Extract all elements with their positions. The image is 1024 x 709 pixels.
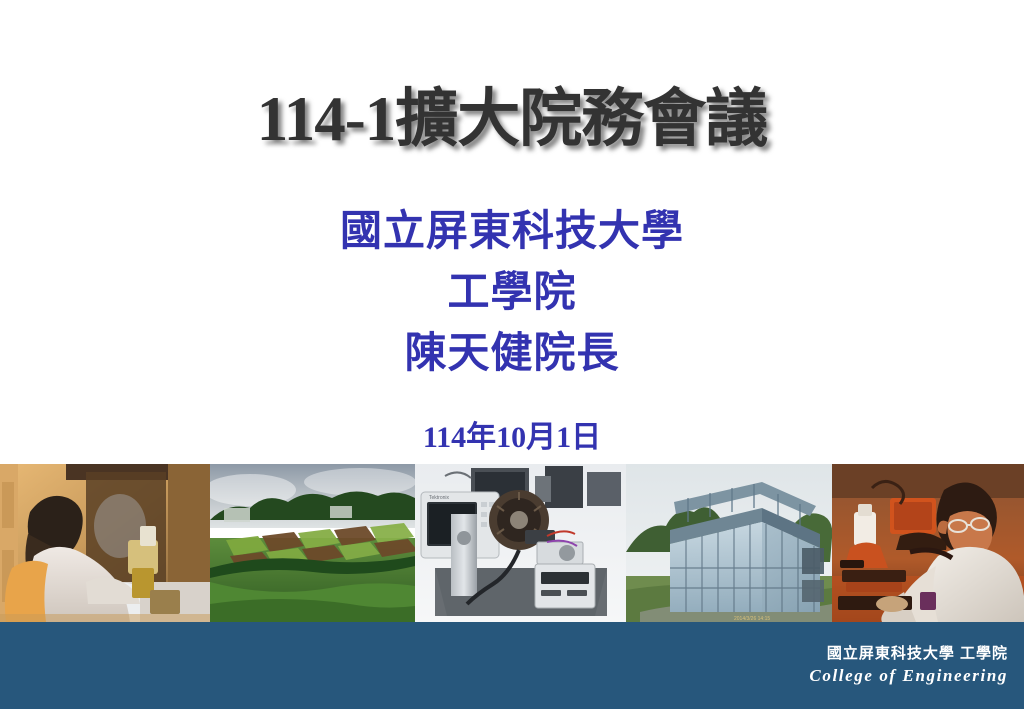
subtitle-line-college: 工學院 [0, 261, 1024, 322]
photo-glass-greenhouse-building: 2014/3/26 14:15 [626, 464, 832, 622]
footer-organization-en: College of Engineering [809, 664, 1008, 688]
footer-organization-cn: 國立屏東科技大學 工學院 [809, 644, 1008, 664]
title-block: 114-1擴大院務會議 [0, 86, 1024, 152]
footer-text-block: 國立屏東科技大學 工學院 College of Engineering [809, 644, 1008, 688]
date-block: 114年10月1日 [0, 412, 1024, 456]
photo-microscope-researcher-red-light [832, 464, 1024, 622]
presentation-slide: 114-1擴大院務會議 國立屏東科技大學 工學院 陳天健院長 114年10月1日 [0, 0, 1024, 709]
subtitle-block: 國立屏東科技大學 工學院 陳天健院長 [0, 200, 1024, 383]
photo-motor-test-rig-oscilloscope: Tektronix [415, 464, 626, 622]
photo-strip: Tektronix [0, 464, 1024, 622]
subtitle-line-presenter: 陳天健院長 [0, 322, 1024, 383]
photo-researcher-at-lab-bench [0, 464, 210, 622]
footer-band: 國立屏東科技大學 工學院 College of Engineering [0, 622, 1024, 709]
svg-text:Tektronix: Tektronix [429, 495, 450, 501]
presentation-date: 114年10月1日 [0, 412, 1024, 456]
photo-terraced-experimental-fields [210, 464, 415, 622]
page-title: 114-1擴大院務會議 [257, 86, 768, 152]
subtitle-line-university: 國立屏東科技大學 [0, 200, 1024, 261]
